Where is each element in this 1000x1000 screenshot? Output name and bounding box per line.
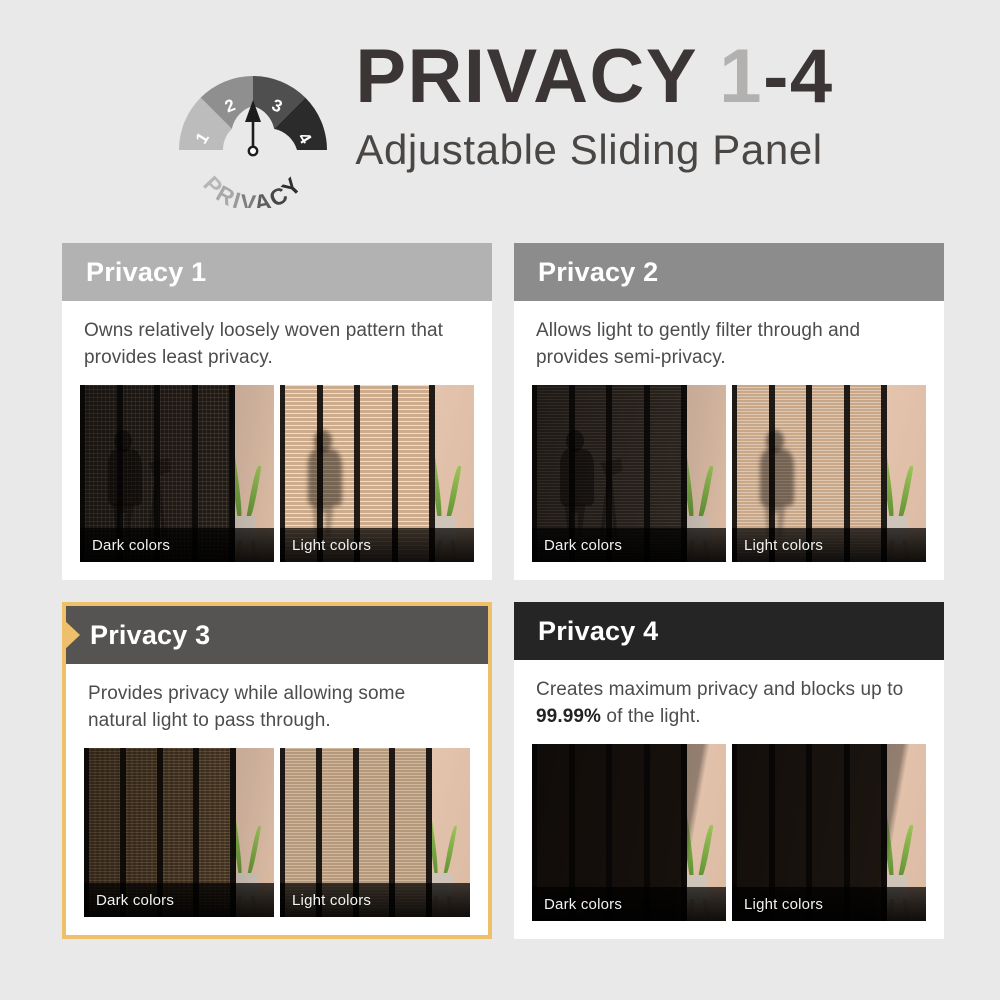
card-3-header: Privacy 3 (66, 606, 488, 664)
card-2-header: Privacy 2 (514, 243, 944, 301)
card-1-description: Owns relatively loosely woven pattern th… (62, 301, 492, 385)
card-4-photo-dark-label: Dark colors (532, 887, 726, 921)
card-2-photo-dark[interactable]: Dark colors (532, 385, 726, 562)
card-1-description-text: Owns relatively loosely woven pattern th… (84, 320, 443, 368)
card-3-photo-light[interactable]: Light colors (280, 748, 470, 917)
card-1-photo-dark-label: Dark colors (80, 528, 274, 562)
page-title: PRIVACY 1-4 (355, 38, 833, 116)
card-4-description-text: Creates maximum privacy and blocks up to (536, 679, 903, 700)
card-2-description-text: Allows light to gently filter through an… (536, 320, 860, 368)
card-3-photo-dark-label: Dark colors (84, 883, 274, 917)
card-2-description: Allows light to gently filter through an… (514, 301, 944, 385)
card-4-description-highlight: 99.99% (536, 706, 601, 727)
page-title-num-light: 1 (719, 34, 763, 119)
page-header: 1 2 3 4 PRIVACY PRIVAC (0, 32, 1000, 212)
card-3-photos: Dark colors (66, 748, 488, 935)
card-4-description-tail: of the light. (601, 706, 701, 727)
card-4-header: Privacy 4 (514, 602, 944, 660)
card-2-photo-light[interactable]: Light colors (732, 385, 926, 562)
card-1-photo-light[interactable]: Light colors (280, 385, 474, 562)
card-4-photos: Dark colors (514, 744, 944, 939)
card-1-photo-light-label: Light colors (280, 528, 474, 562)
card-4-photo-light-label: Light colors (732, 887, 926, 921)
privacy-card-grid: Privacy 1 Owns relatively loosely woven … (62, 243, 944, 939)
gauge-needle (245, 100, 261, 155)
card-2-title: Privacy 2 (538, 257, 658, 288)
card-3-photo-dark[interactable]: Dark colors (84, 748, 274, 917)
card-2-photos: Dark colors (514, 385, 944, 580)
card-3-photo-light-label: Light colors (280, 883, 470, 917)
card-1-photo-dark[interactable]: Dark colors (80, 385, 274, 562)
card-2-photo-light-label: Light colors (732, 528, 926, 562)
card-4-photo-dark[interactable]: Dark colors (532, 744, 726, 921)
card-1-photos: Dark colors (62, 385, 492, 580)
privacy-gauge-icon: 1 2 3 4 PRIVACY (166, 38, 341, 208)
card-4-photo-light[interactable]: Light colors (732, 744, 926, 921)
card-4-description: Creates maximum privacy and blocks up to… (514, 660, 944, 744)
page-title-num-dark: 4 (790, 34, 834, 119)
card-4-title: Privacy 4 (538, 616, 658, 647)
page-title-dash: - (763, 34, 790, 119)
card-1-header: Privacy 1 (62, 243, 492, 301)
privacy-card-1[interactable]: Privacy 1 Owns relatively loosely woven … (62, 243, 492, 580)
gauge-label: PRIVACY (199, 171, 308, 208)
card-3-description-text: Provides privacy while allowing some nat… (88, 683, 405, 731)
card-2-photo-dark-label: Dark colors (532, 528, 726, 562)
card-3-title: Privacy 3 (90, 620, 210, 651)
privacy-card-4[interactable]: Privacy 4 Creates maximum privacy and bl… (514, 602, 944, 939)
privacy-card-2[interactable]: Privacy 2 Allows light to gently filter … (514, 243, 944, 580)
selected-pointer-icon (62, 618, 80, 652)
card-3-description: Provides privacy while allowing some nat… (66, 664, 488, 748)
privacy-card-3[interactable]: Privacy 3 Provides privacy while allowin… (62, 602, 492, 939)
page-title-word: PRIVACY (355, 34, 696, 119)
page-subtitle: Adjustable Sliding Panel (355, 124, 833, 177)
gauge-svg: 1 2 3 4 PRIVACY (166, 38, 341, 208)
privacy-levels-infographic: 1 2 3 4 PRIVACY PRIVAC (0, 0, 1000, 1000)
title-block: PRIVACY 1-4 Adjustable Sliding Panel (355, 38, 833, 176)
card-1-title: Privacy 1 (86, 257, 206, 288)
